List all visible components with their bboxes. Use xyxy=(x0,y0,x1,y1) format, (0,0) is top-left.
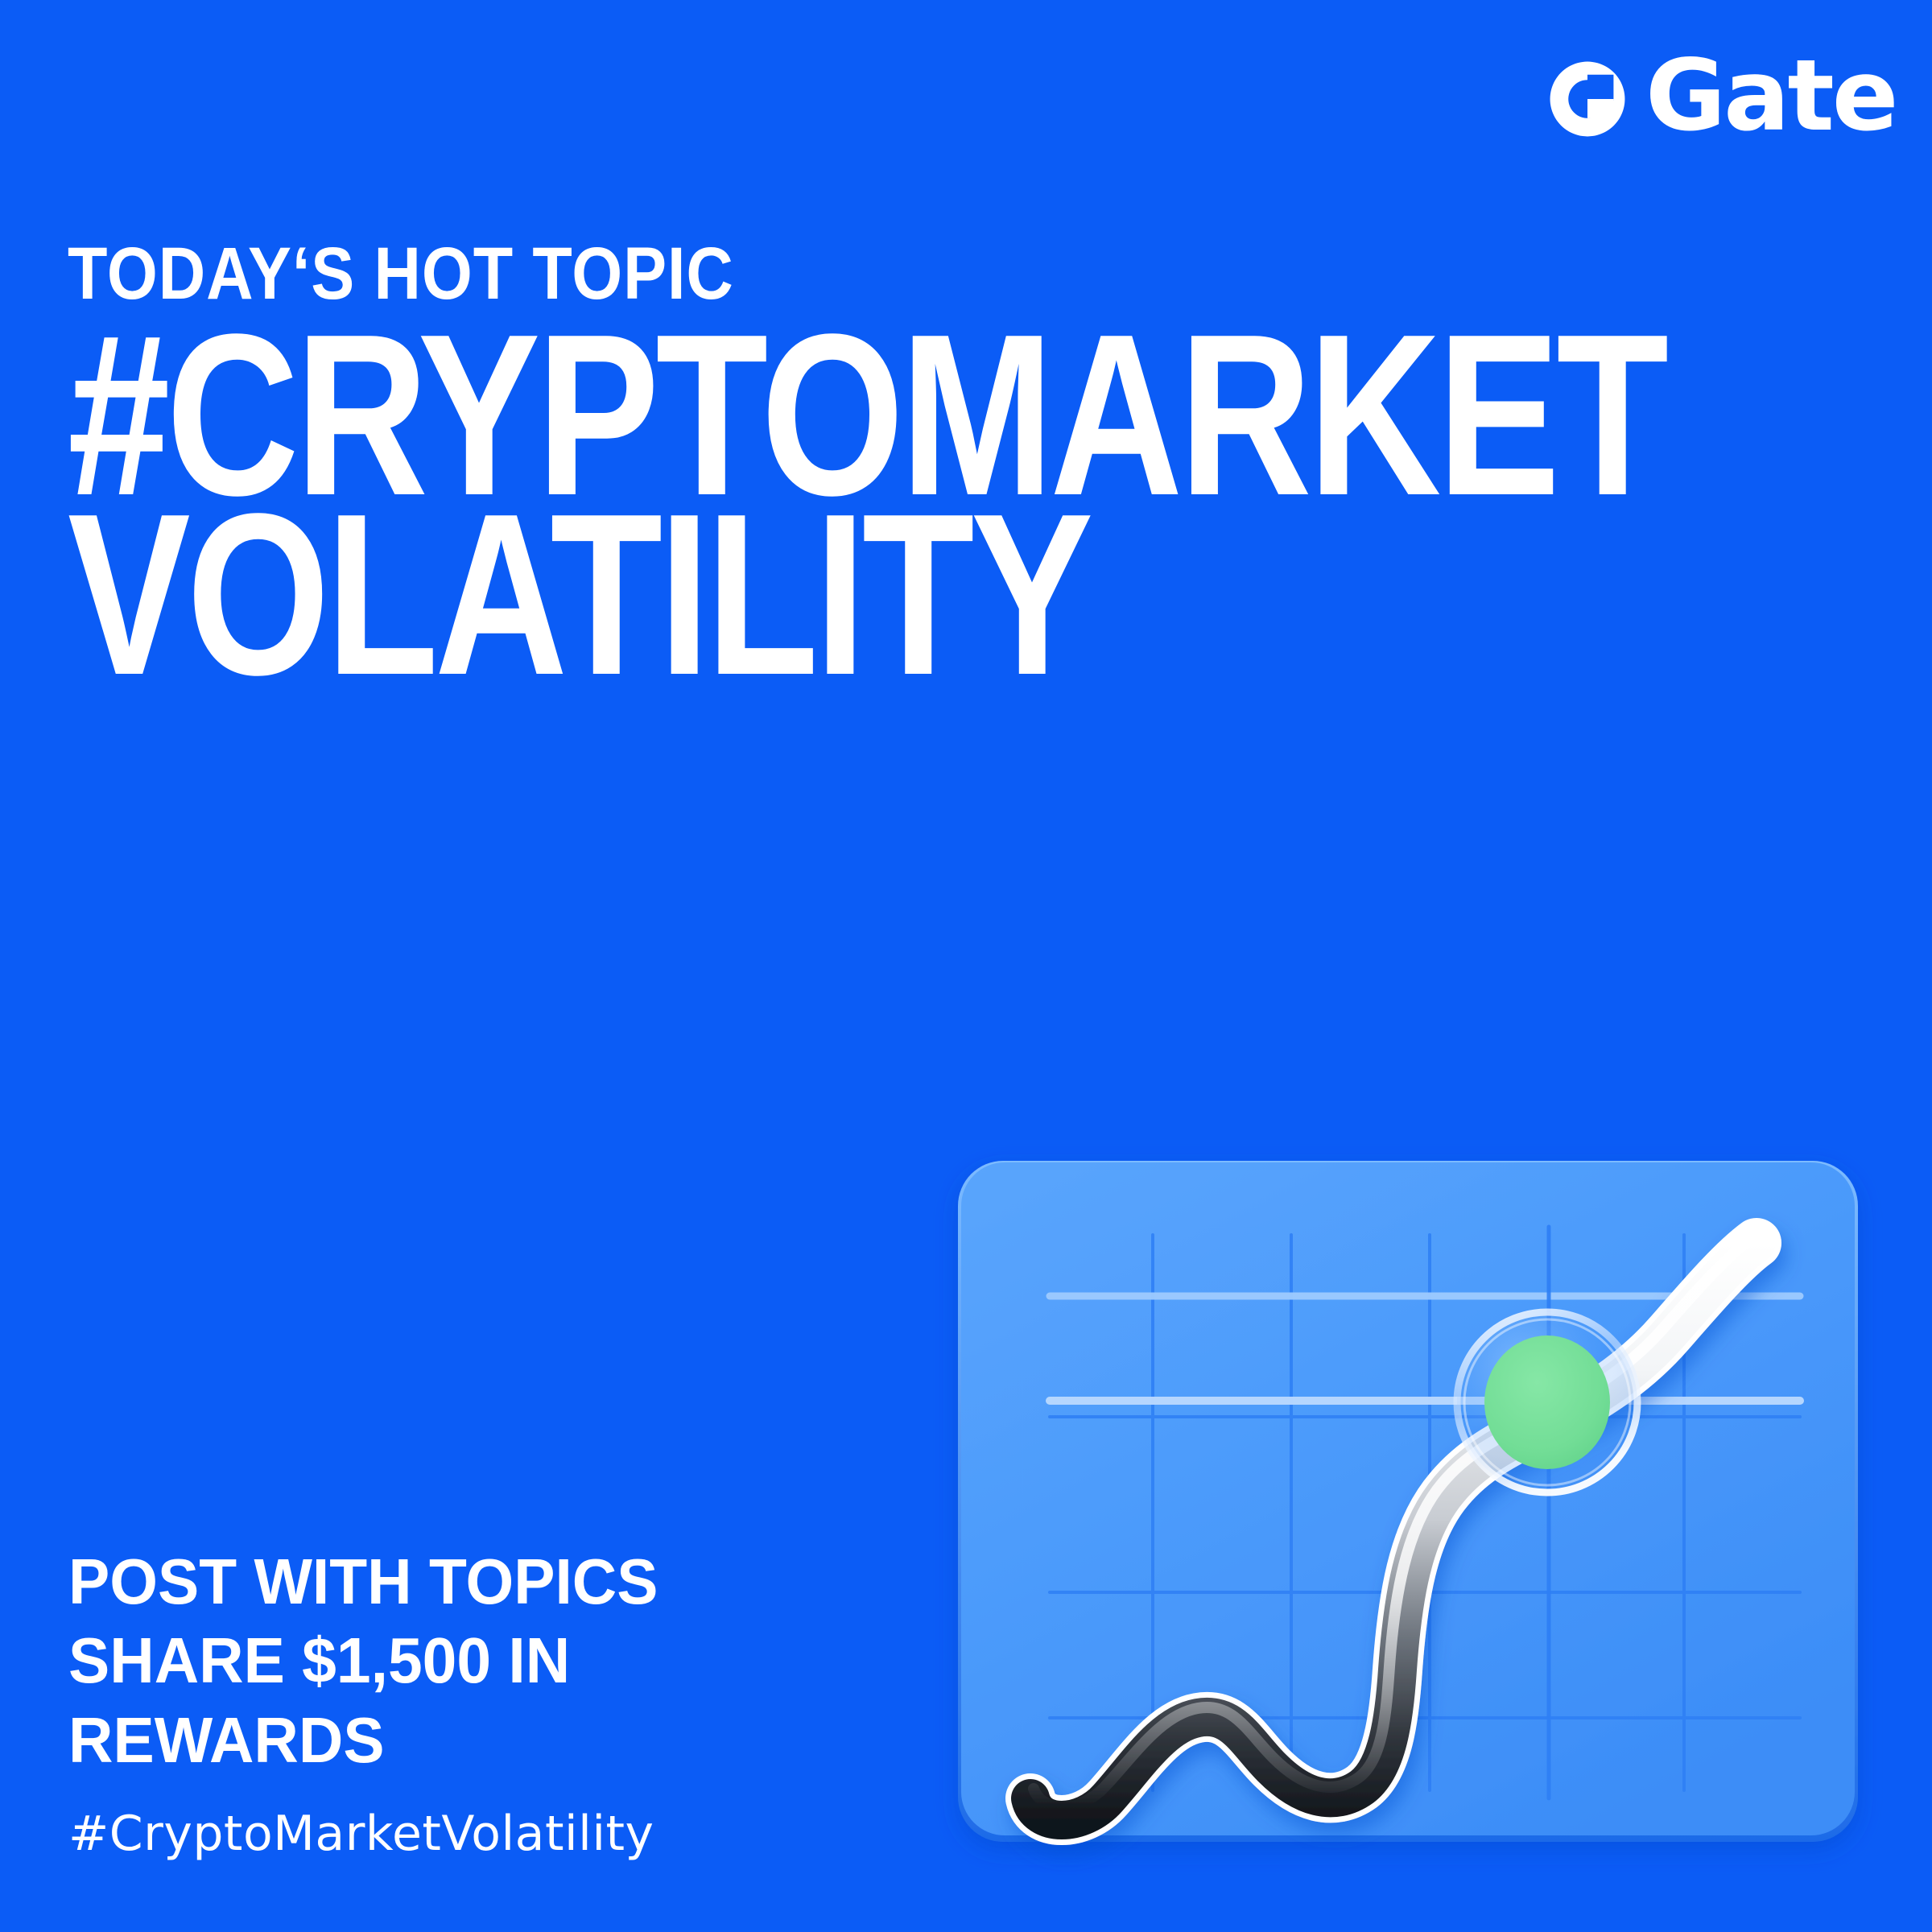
poster-canvas: Gate TODAY‘S HOT TOPIC #CRYPTOMARKET VOL… xyxy=(0,0,1932,1932)
campaign-hashtag: #CryptoMarketVolatility xyxy=(68,1810,654,1858)
growth-chart-illustration xyxy=(947,1154,1869,1848)
brand-logo: Gate xyxy=(1544,50,1897,148)
page-title: #CRYPTOMARKET VOLATILITY xyxy=(68,325,1932,684)
cta-text: POST WITH TOPICS SHARE $1,500 IN REWARDS xyxy=(68,1542,683,1780)
green-marker-dot xyxy=(1484,1335,1610,1469)
gate-circle-notch-icon xyxy=(1544,56,1631,142)
cta-line-1: POST WITH TOPICS xyxy=(68,1542,658,1621)
brand-wordmark: Gate xyxy=(1645,47,1897,145)
headline-line-2: VOLATILITY xyxy=(68,505,1665,684)
growth-chart-svg xyxy=(947,1154,1869,1848)
chart-highlight-marker xyxy=(1457,1312,1637,1492)
cta-line-3: REWARDS xyxy=(68,1701,658,1780)
cta-line-2: SHARE $1,500 IN xyxy=(68,1621,658,1700)
